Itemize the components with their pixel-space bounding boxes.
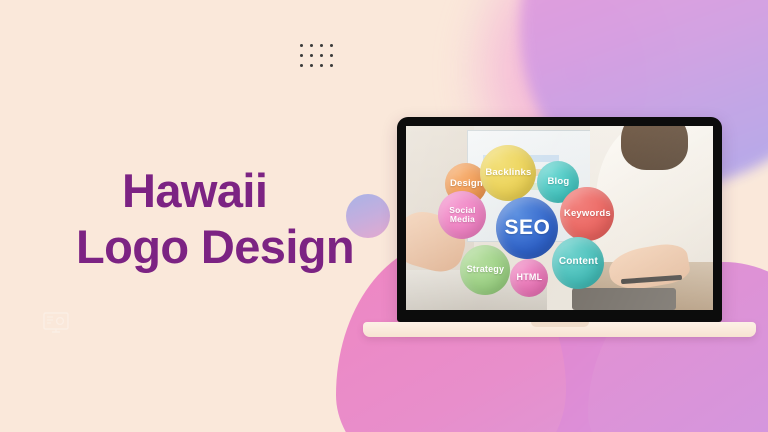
headline-line-2: Logo Design — [76, 219, 354, 275]
grid-dot — [300, 44, 303, 47]
bubble-content: Content — [552, 237, 604, 289]
laptop-lid: Design Backlinks Blog Keywords Social Me… — [397, 117, 722, 322]
laptop-notch — [531, 322, 589, 327]
laptop-screen: Design Backlinks Blog Keywords Social Me… — [406, 126, 713, 310]
grid-dot — [320, 54, 323, 57]
laptop-base — [363, 322, 756, 337]
grid-dot — [300, 64, 303, 67]
dot-grid-icon — [296, 40, 336, 70]
bubble-strategy: Strategy — [460, 245, 510, 295]
grid-dot — [330, 64, 333, 67]
bubble-backlinks: Backlinks — [480, 145, 536, 201]
bubble-html: HTML — [510, 259, 548, 297]
grid-dot — [310, 54, 313, 57]
grid-dot — [330, 54, 333, 57]
monitor-icon — [41, 311, 71, 336]
promo-banner: Hawaii Logo Design — [0, 0, 768, 432]
grid-dot — [320, 64, 323, 67]
laptop-mockup: Design Backlinks Blog Keywords Social Me… — [397, 117, 722, 322]
grid-dot — [320, 44, 323, 47]
bubble-social-media: Social Media — [438, 191, 486, 239]
grid-dot — [330, 44, 333, 47]
bubble-keywords: Keywords — [560, 187, 614, 241]
page-title: Hawaii Logo Design — [122, 163, 354, 276]
grid-dot — [310, 64, 313, 67]
headline-line-1: Hawaii — [122, 163, 354, 219]
grid-dot — [300, 54, 303, 57]
grid-dot — [310, 44, 313, 47]
seo-bubble-diagram: Design Backlinks Blog Keywords Social Me… — [424, 141, 694, 299]
bubble-seo-center: SEO — [496, 197, 558, 259]
